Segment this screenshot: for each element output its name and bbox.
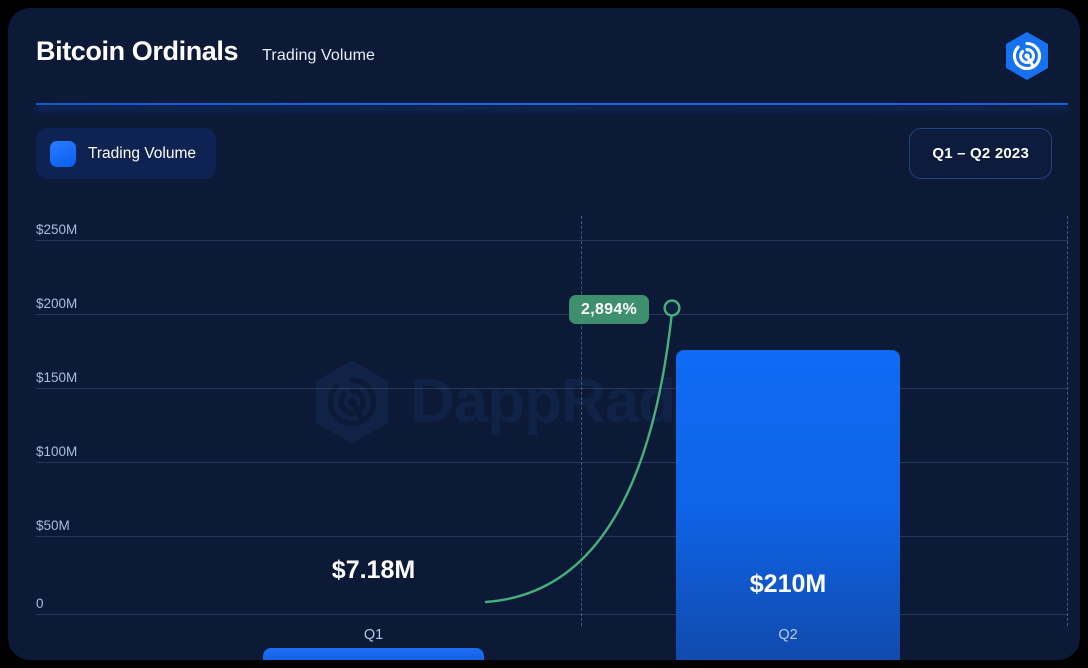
chart-card: Bitcoin Ordinals Trading Volume Trading … (8, 8, 1080, 660)
legend-label: Trading Volume (88, 145, 196, 163)
header-titles: Bitcoin Ordinals Trading Volume (36, 36, 375, 67)
growth-badge: 2,894% (569, 295, 649, 324)
bar-value-q2: $210M (676, 570, 900, 599)
bar-value-q1: $7.18M (263, 556, 484, 585)
xtick-label-q1: Q1 (263, 627, 484, 643)
page-title: Bitcoin Ordinals (36, 36, 238, 67)
curve-end-marker-icon (665, 301, 680, 316)
growth-percentage-label: 2,894% (581, 301, 637, 319)
chart-plot-area: DappRadar $250M $200M $150M $100M $50M 0 (8, 204, 1080, 660)
header-divider (36, 103, 1068, 105)
header-divider-glow (36, 105, 1068, 111)
xtick-label-q2: Q2 (676, 627, 900, 643)
page-subtitle: Trading Volume (262, 47, 375, 65)
dappradar-logo-icon (1002, 30, 1052, 82)
card-header: Bitcoin Ordinals Trading Volume (8, 8, 1080, 104)
date-range-pill[interactable]: Q1 – Q2 2023 (909, 128, 1052, 179)
legend-trading-volume[interactable]: Trading Volume (36, 128, 216, 179)
date-range-label: Q1 – Q2 2023 (932, 145, 1029, 162)
growth-curve (8, 204, 1080, 660)
legend-color-swatch-icon (50, 141, 76, 167)
